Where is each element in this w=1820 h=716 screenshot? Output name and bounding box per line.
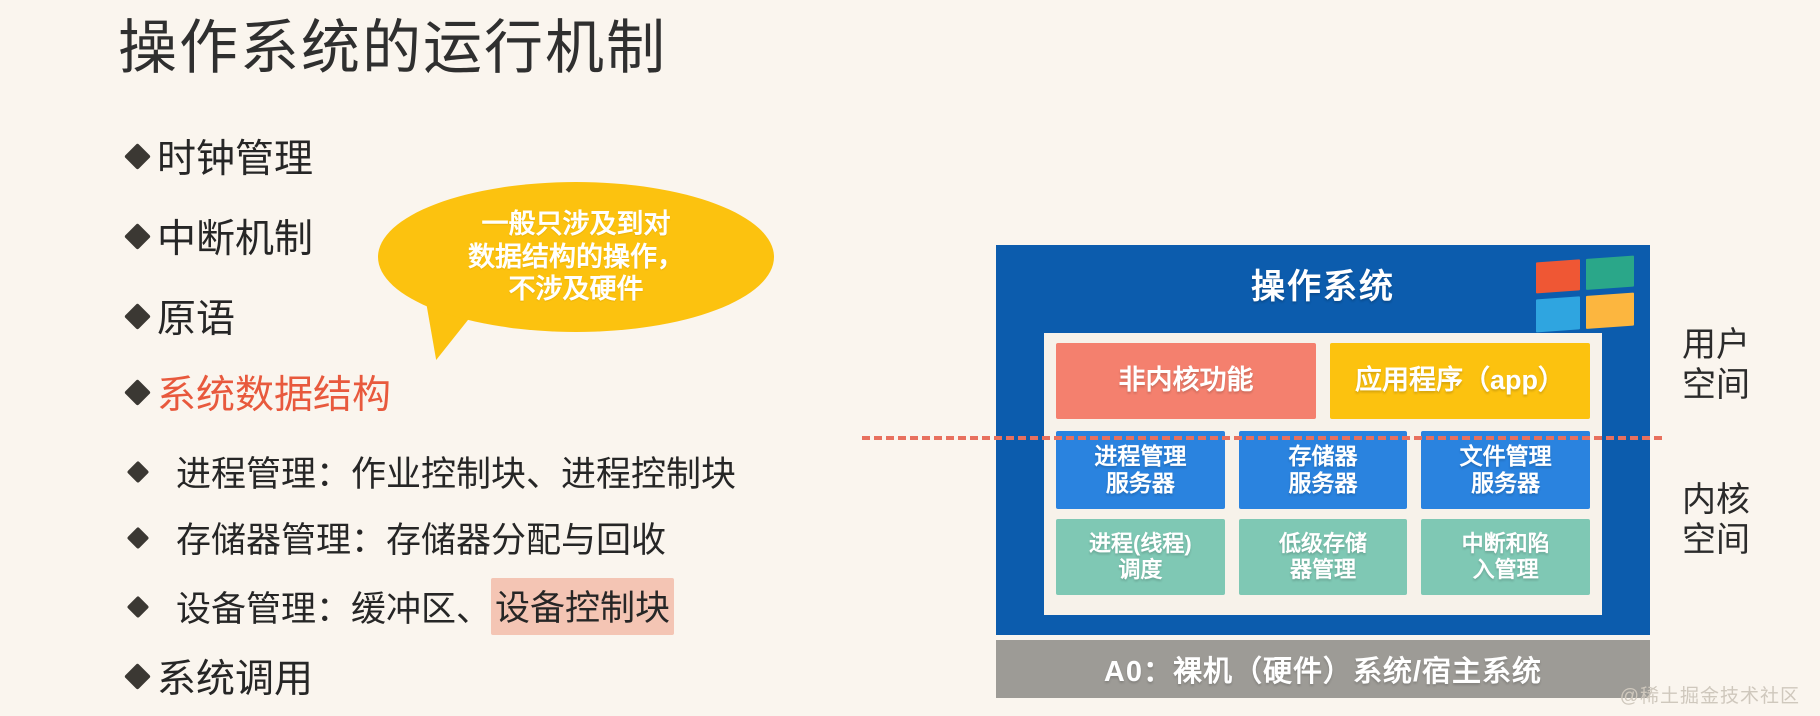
box-non-kernel-function: 非内核功能 (1056, 343, 1316, 419)
callout-line-2: 数据结构的操作， (468, 241, 684, 274)
label-user-space: 用户 空间 (1682, 325, 1750, 405)
callout-text: 一般只涉及到对 数据结构的操作， 不涉及硬件 (440, 208, 712, 307)
box-process-management-server: 进程管理 服务器 (1056, 431, 1225, 509)
diamond-bullet-icon (127, 526, 150, 549)
os-panel: 操作系统 非内核功能 应用程序（app） 进程管理 服务器 存储器 服务器 文件… (996, 245, 1650, 635)
windows-logo-quadrant-top-left (1536, 259, 1580, 293)
os-architecture-diagram: 操作系统 非内核功能 应用程序（app） 进程管理 服务器 存储器 服务器 文件… (996, 245, 1650, 635)
diamond-bullet-icon (124, 303, 151, 330)
diamond-bullet-icon (124, 223, 151, 250)
bullet-item-6: 设备管理：缓冲区、 设备控制块 (130, 578, 674, 635)
bullet-item-5: 存储器管理：存储器分配与回收 (130, 512, 666, 563)
bullet-item-2: 原语 (128, 288, 235, 344)
user-space-row: 非内核功能 应用程序（app） (1056, 343, 1590, 419)
bullet-item-4: 进程管理：作业控制块、进程控制块 (130, 446, 736, 497)
watermark: @稀土掘金技术社区 (1620, 681, 1800, 708)
bullet-label: 时钟管理 (157, 128, 313, 184)
windows-logo-quadrant-top-right (1586, 256, 1634, 290)
diamond-bullet-icon (124, 143, 151, 170)
callout-line-3: 不涉及硬件 (468, 273, 684, 306)
bullet-item-1: 中断机制 (128, 208, 313, 264)
windows-logo-icon (1536, 256, 1634, 333)
diamond-bullet-icon (127, 460, 150, 483)
user-kernel-divider (862, 436, 1662, 440)
server-row: 进程管理 服务器 存储器 服务器 文件管理 服务器 (1056, 431, 1590, 509)
bullet-label-highlighted: 系统数据结构 (157, 364, 391, 420)
windows-logo-quadrant-bottom-right (1586, 293, 1634, 329)
left-column: 操作系统的运行机制 时钟管理 中断机制 原语 系统数据结构 进程管理：作业控制块… (0, 0, 840, 716)
bullet-label: 设备管理：缓冲区、 (176, 581, 491, 632)
bullet-item-0: 时钟管理 (128, 128, 313, 184)
bullet-label: 中断机制 (157, 208, 313, 264)
diamond-bullet-icon (127, 595, 150, 618)
bullet-item-7: 系统调用 (128, 648, 313, 704)
box-interrupt-and-trap-management: 中断和陷 入管理 (1421, 519, 1590, 595)
kernel-row: 进程(线程) 调度 低级存储 器管理 中断和陷 入管理 (1056, 519, 1590, 595)
diamond-bullet-icon (124, 379, 151, 406)
bullet-label: 进程管理：作业控制块、进程控制块 (176, 446, 736, 497)
box-application-program: 应用程序（app） (1330, 343, 1590, 419)
box-process-thread-scheduling: 进程(线程) 调度 (1056, 519, 1225, 595)
bullet-label: 系统调用 (157, 648, 313, 704)
callout-line-1: 一般只涉及到对 (468, 208, 684, 241)
bullet-label-term-highlight: 设备控制块 (491, 578, 674, 635)
page-title: 操作系统的运行机制 (118, 18, 667, 80)
bullet-label: 存储器管理：存储器分配与回收 (176, 512, 666, 563)
box-low-level-memory-management: 低级存储 器管理 (1239, 519, 1408, 595)
windows-logo-quadrant-bottom-left (1536, 296, 1580, 332)
hardware-bar: A0：裸机（硬件）系统/宿主系统 (996, 640, 1650, 698)
bullet-label: 原语 (157, 288, 235, 344)
box-memory-server: 存储器 服务器 (1239, 431, 1408, 509)
box-file-management-server: 文件管理 服务器 (1421, 431, 1590, 509)
bullet-item-3: 系统数据结构 (128, 364, 391, 420)
slide-root: 操作系统的运行机制 时钟管理 中断机制 原语 系统数据结构 进程管理：作业控制块… (0, 0, 1820, 716)
callout-bubble: 一般只涉及到对 数据结构的操作， 不涉及硬件 (378, 182, 774, 332)
diamond-bullet-icon (124, 663, 151, 690)
label-kernel-space: 内核 空间 (1682, 480, 1750, 560)
os-inner-area: 非内核功能 应用程序（app） 进程管理 服务器 存储器 服务器 文件管理 服务… (1044, 333, 1602, 615)
